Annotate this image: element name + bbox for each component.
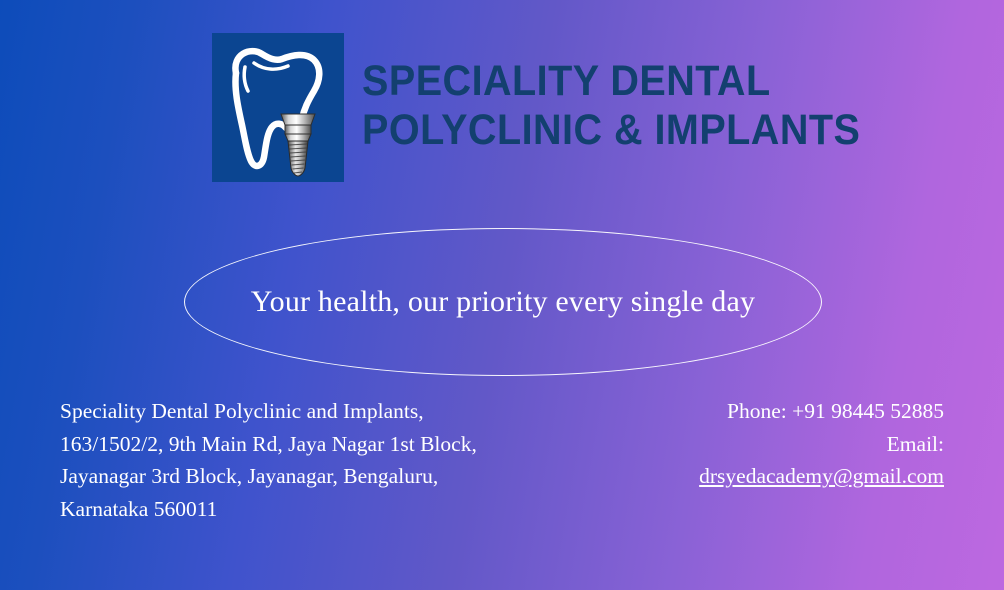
brand-line-1: SPECIALITY DENTAL xyxy=(362,60,860,102)
phone-line: Phone: +91 98445 52885 xyxy=(699,395,944,428)
contact-details-block: Phone: +91 98445 52885 Email: drsyedacad… xyxy=(699,395,944,493)
brand-header: SPECIALITY DENTAL POLYCLINIC & IMPLANTS xyxy=(212,33,904,182)
address-block: Speciality Dental Polyclinic and Implant… xyxy=(60,395,530,526)
email-label: Email: xyxy=(699,428,944,461)
brand-name: SPECIALITY DENTAL POLYCLINIC & IMPLANTS xyxy=(362,60,904,154)
email-link[interactable]: drsyedacademy@gmail.com xyxy=(699,460,944,493)
brand-line-2: POLYCLINIC & IMPLANTS xyxy=(362,109,860,151)
business-card: SPECIALITY DENTAL POLYCLINIC & IMPLANTS … xyxy=(0,0,1004,590)
contact-section: Speciality Dental Polyclinic and Implant… xyxy=(0,395,1004,526)
logo-box xyxy=(212,33,344,182)
tagline-text: Your health, our priority every single d… xyxy=(184,228,822,376)
tooth-with-dental-implant-icon xyxy=(212,33,344,182)
tagline-container: Your health, our priority every single d… xyxy=(184,228,822,376)
